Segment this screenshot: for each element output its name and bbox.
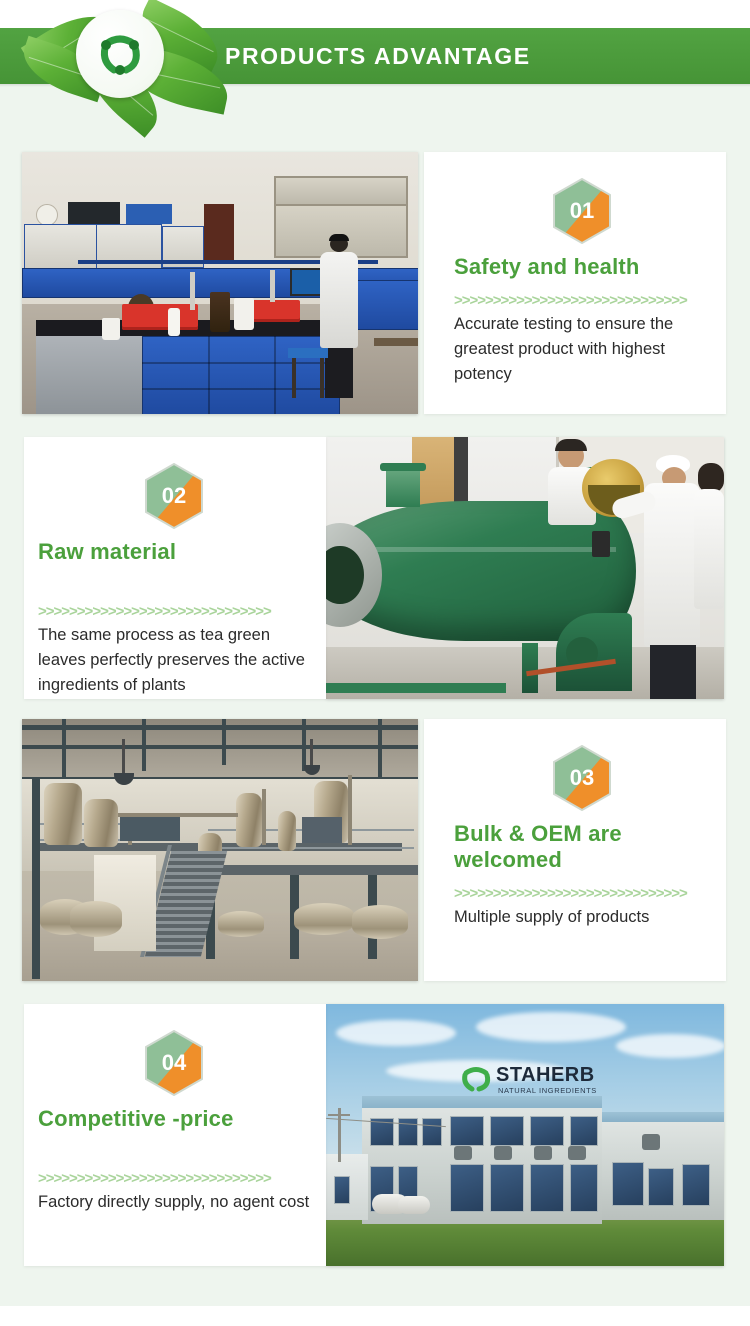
advantage-title-1: Safety and health [454,254,714,280]
logo-circle-badge [76,10,164,98]
advantage-row-2: 02 Raw material >>>>>>>>>>>>>>>>>>>>>>>>… [0,437,750,699]
advantage-card-2: 02 Raw material >>>>>>>>>>>>>>>>>>>>>>>>… [24,437,326,699]
staherb-swirl-icon [90,24,150,84]
advantage-row-3: 03 Bulk & OEM are welcomed >>>>>>>>>>>>>… [0,719,750,981]
brand-logo [18,2,228,110]
advantage-badge-3: 03 [552,745,612,811]
page-title: PRODUCTS ADVANTAGE [225,28,531,84]
advantage-card-1: 01 Safety and health >>>>>>>>>>>>>>>>>>>… [424,152,726,414]
advantage-number-4: 04 [162,1050,187,1075]
chevron-divider: >>>>>>>>>>>>>>>>>>>>>>>>>>>>>> [38,603,310,619]
advantage-title-4: Competitive -price [38,1106,310,1132]
advantage-number-3: 03 [570,765,594,790]
page-bottom-strip [0,1306,750,1326]
advantage-description-4: Factory directly supply, no agent cost [38,1190,314,1215]
building-brand-tagline: NATURAL INGREDIENTS [498,1086,597,1095]
staherb-roof-logo-icon [458,1062,494,1094]
chevron-divider: >>>>>>>>>>>>>>>>>>>>>>>>>>>>>> [454,885,716,901]
advantage-badge-4: 04 [144,1030,204,1096]
chevron-divider: >>>>>>>>>>>>>>>>>>>>>>>>>>>>>> [454,292,716,308]
advantage-number-2: 02 [162,483,186,508]
advantage-badge-1: 01 [552,178,612,244]
building-brand-sign: STAHERB [496,1064,595,1087]
advantage-description-1: Accurate testing to ensure the greatest … [454,312,716,387]
advantage-description-3: Multiple supply of products [454,905,716,930]
advantage-row-1: 01 Safety and health >>>>>>>>>>>>>>>>>>>… [0,152,750,414]
advantage-title-2: Raw material [38,539,310,565]
factory-building-photo: STAHERB NATURAL INGREDIENTS [326,1004,724,1266]
advantage-description-2: The same process as tea green leaves per… [38,623,314,698]
chevron-divider: >>>>>>>>>>>>>>>>>>>>>>>>>>>>>> [38,1170,310,1186]
products-advantage-page: PRODUCTS ADVANTAGE [0,0,750,1326]
advantage-title-3: Bulk & OEM are welcomed [454,821,714,873]
advantage-row-4: STAHERB NATURAL INGREDIENTS [0,1004,750,1266]
laboratory-testing-photo [22,152,418,414]
advantage-badge-2: 02 [144,463,204,529]
raw-material-processing-photo [326,437,724,699]
page-header: PRODUCTS ADVANTAGE [0,0,750,112]
extraction-workshop-photo [22,719,418,981]
advantage-number-1: 01 [570,198,594,223]
advantage-card-3: 03 Bulk & OEM are welcomed >>>>>>>>>>>>>… [424,719,726,981]
advantage-card-4: 04 Competitive -price >>>>>>>>>>>>>>>>>>… [24,1004,326,1266]
